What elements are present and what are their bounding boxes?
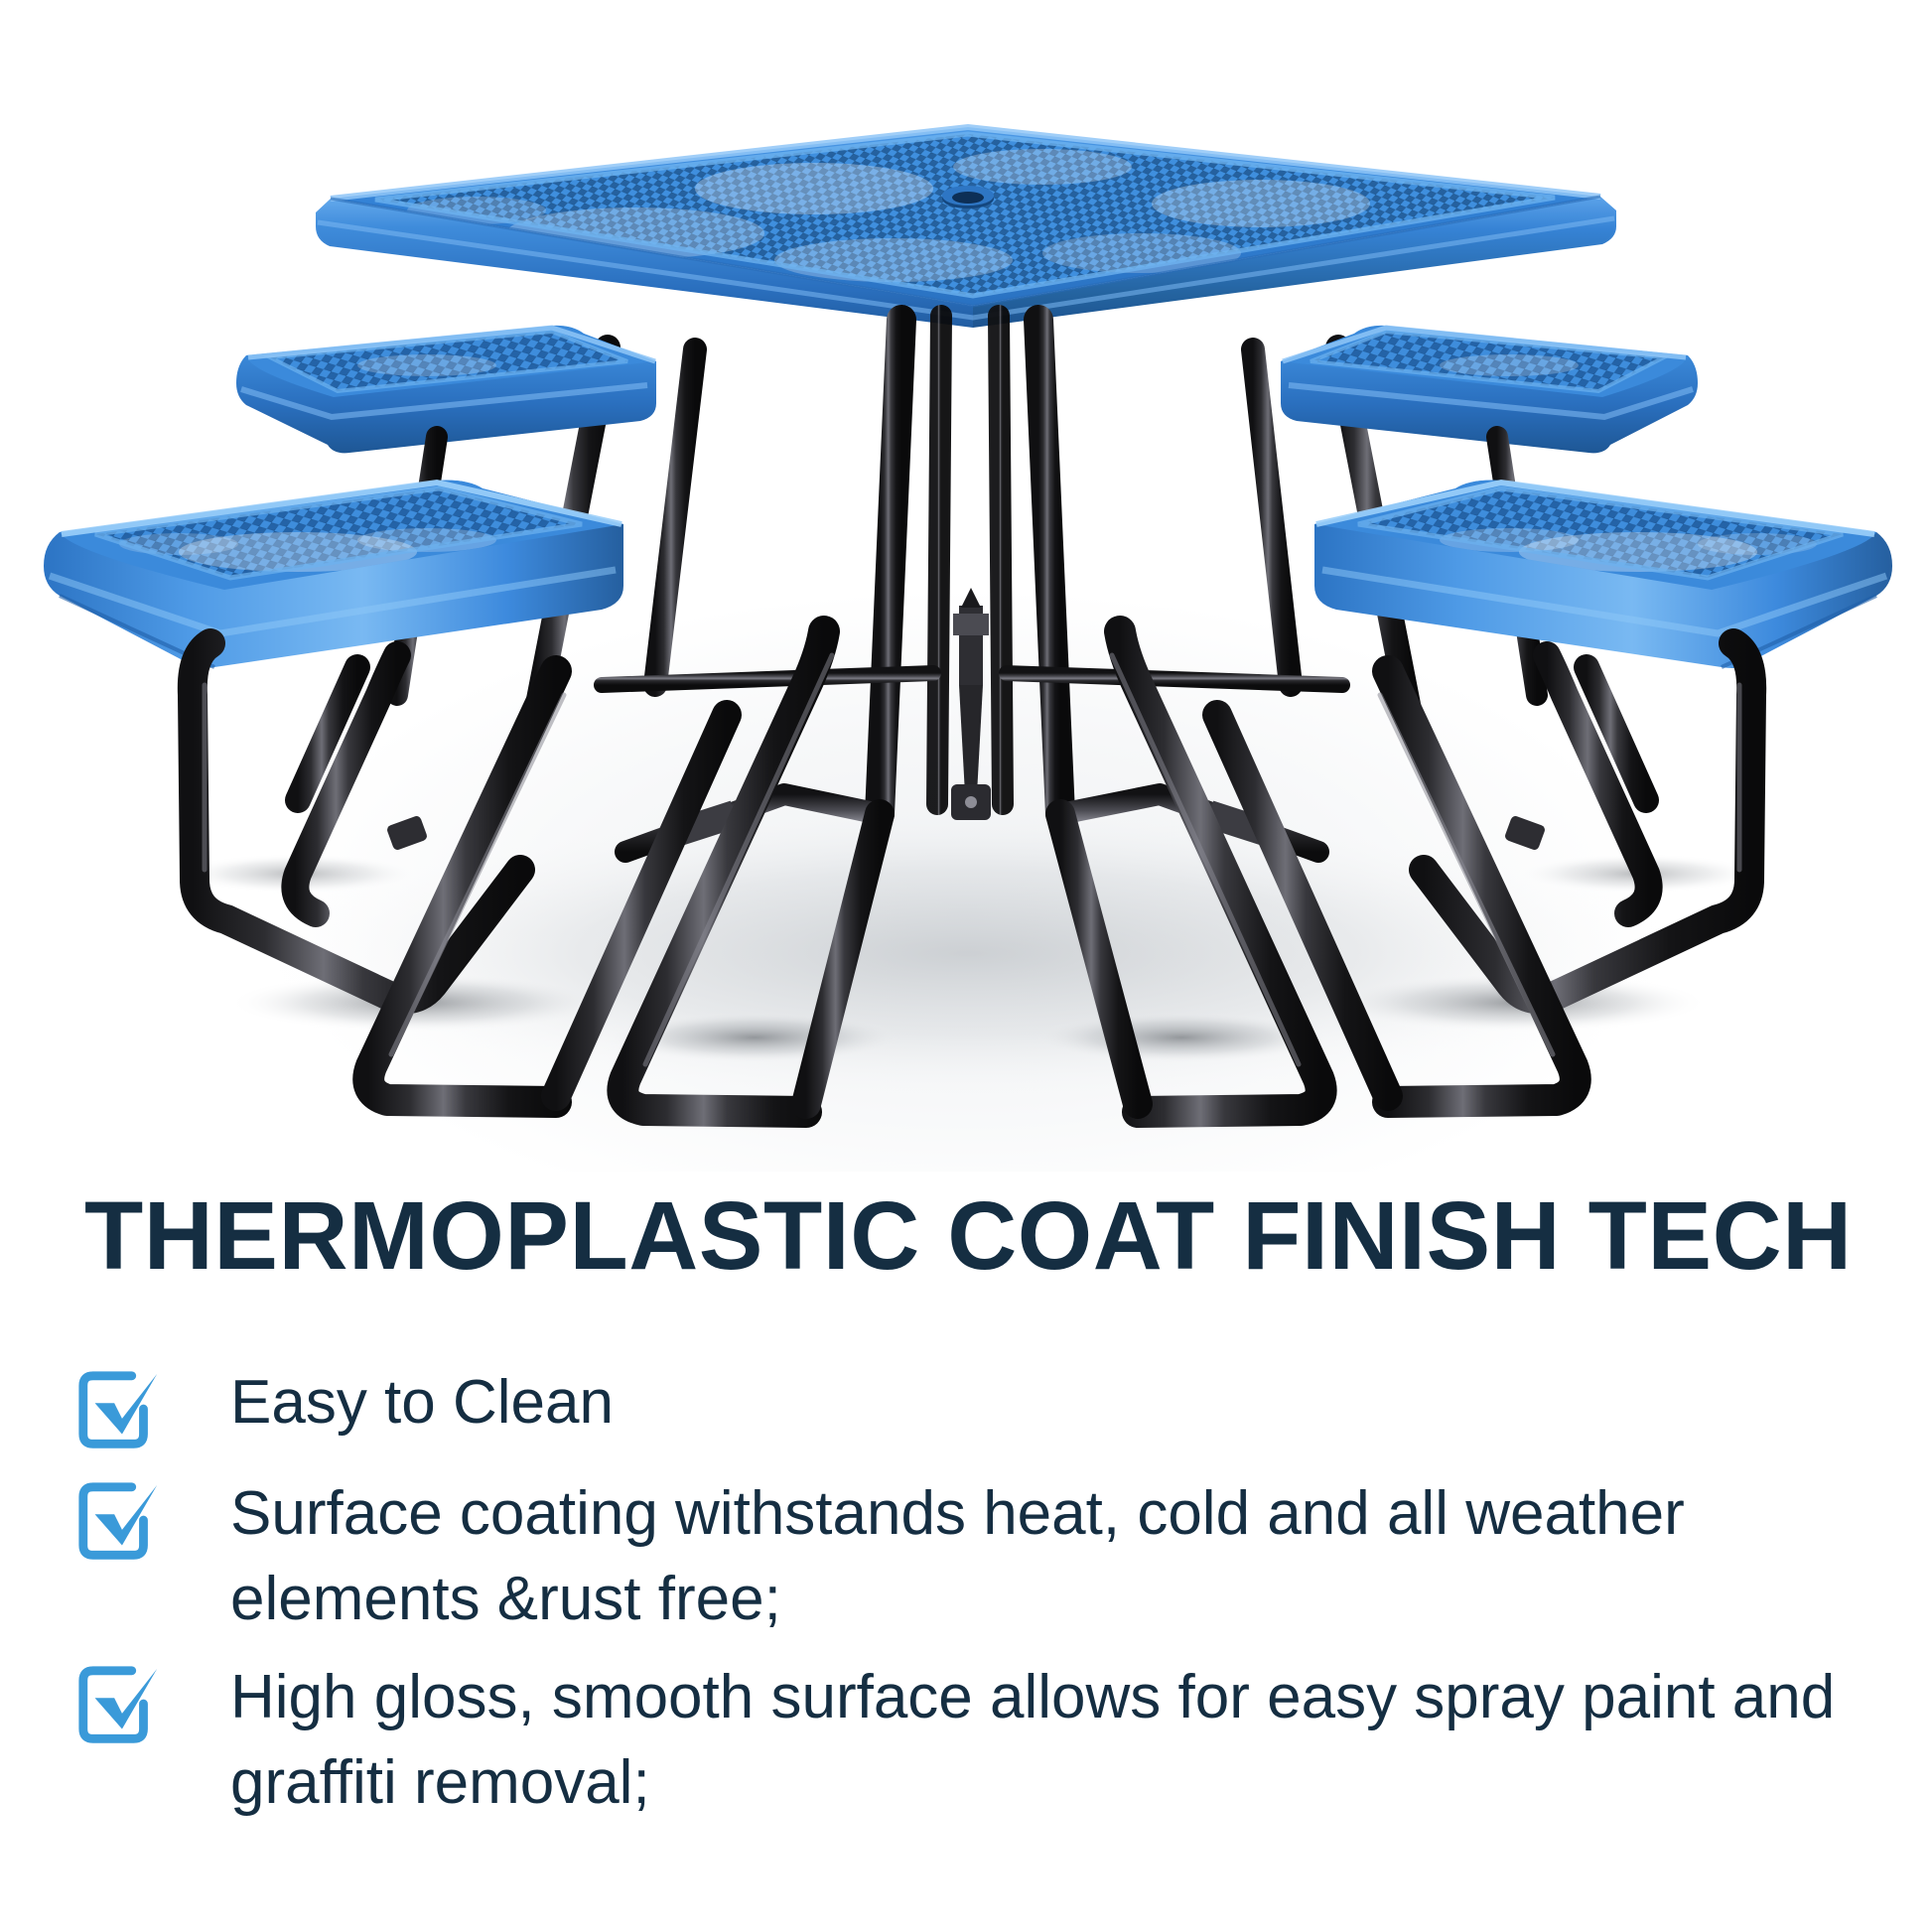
list-item: Easy to Clean — [71, 1360, 1898, 1457]
list-item-label: Easy to Clean — [169, 1360, 1898, 1446]
checkbox-checked-icon — [71, 1661, 169, 1752]
tabletop — [316, 127, 1616, 328]
list-item-label: Surface coating withstands heat, cold an… — [169, 1471, 1898, 1641]
page-title: THERMOPLASTIC COAT FINISH TECH — [84, 1187, 1871, 1284]
list-item: Surface coating withstands heat, cold an… — [71, 1471, 1898, 1641]
feature-list: Easy to Clean Surface coating withstands… — [71, 1360, 1898, 1839]
umbrella-hole — [942, 186, 994, 208]
checkbox-checked-icon — [71, 1366, 169, 1457]
checkbox-checked-icon — [71, 1477, 169, 1569]
bench-seat-left-front — [44, 481, 623, 668]
center-bracket — [951, 588, 991, 820]
list-item: High gloss, smooth surface allows for ea… — [71, 1655, 1898, 1825]
list-item-label: High gloss, smooth surface allows for ea… — [169, 1655, 1898, 1825]
product-photo — [0, 0, 1932, 1172]
picnic-table-illustration — [0, 0, 1932, 1172]
